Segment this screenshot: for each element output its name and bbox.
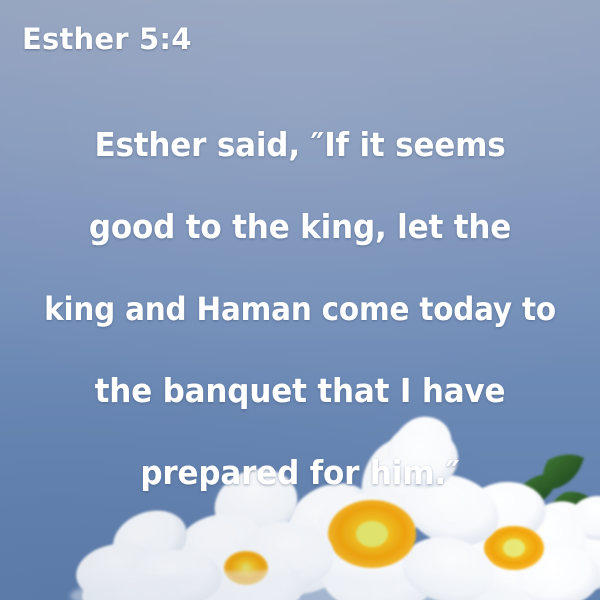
verse-line-4: the banquet that I have xyxy=(18,350,582,432)
flower-left-small xyxy=(73,501,222,600)
flower-haze xyxy=(70,570,530,600)
quote-card: Esther 5:4 Esther said, ″If it seems goo… xyxy=(0,0,600,600)
verse-reference-title: Esther 5:4 xyxy=(22,22,192,56)
stamen-center-left xyxy=(224,551,268,585)
verse-line-5: prepared for him.″ xyxy=(18,432,582,514)
verse-line-1: Esther said, ″If it seems xyxy=(18,104,582,186)
verse-line-3: king and Haman come today to xyxy=(24,268,576,350)
stamen-right-lower xyxy=(484,526,544,570)
verse-text-block: Esther said, ″If it seems good to the ki… xyxy=(0,104,600,514)
verse-line-2: good to the king, let the xyxy=(18,186,582,268)
